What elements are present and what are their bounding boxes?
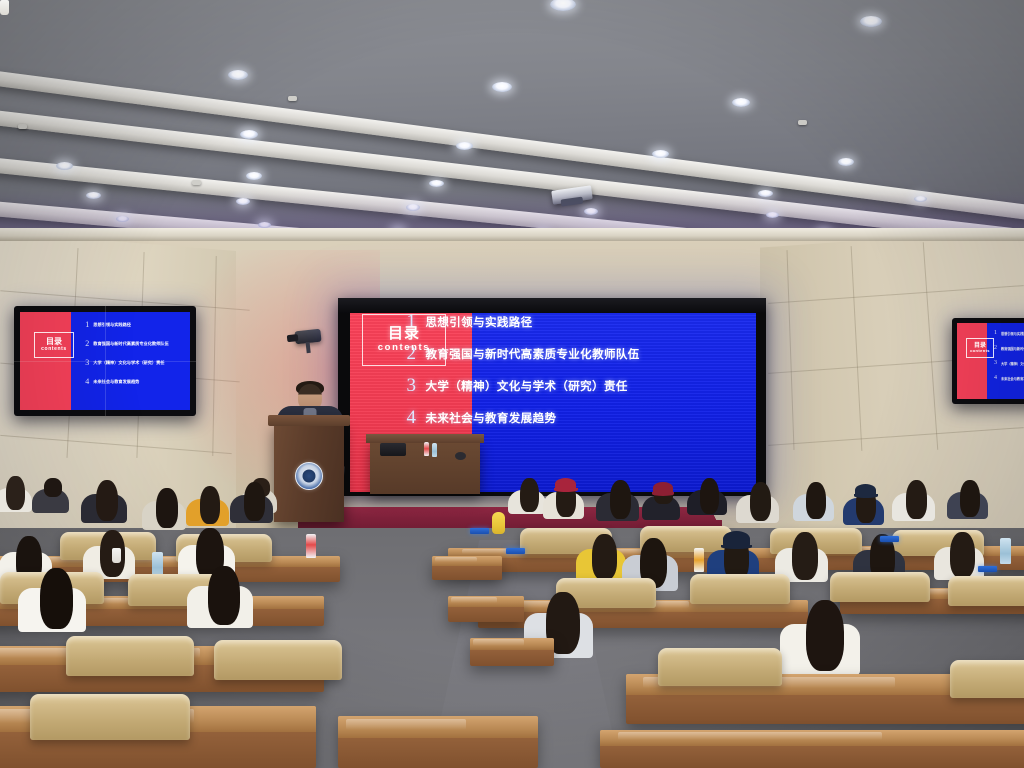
sprinkler-icon [18,124,27,129]
right-wall-toc-text: 教育强国与新时代高素质专业化教师队伍 [1001,346,1024,351]
slide-toc-item-2: 2教育强国与新时代高素质专业化教师队伍 [406,344,740,363]
contents-badge: 目录 contents [362,314,446,366]
slide-toc-list: 1思想引领与实践路径2教育强国与新时代高素质专业化教师队伍3大学（精神）文化与学… [406,312,740,427]
tablet-device [880,536,899,542]
seat-back [214,640,342,680]
student-desk [432,556,502,580]
wall-cornice [0,228,1024,241]
audience-head [96,480,118,521]
right-wall-toc-number: 2 [994,345,997,351]
university-emblem-icon [295,462,323,490]
contents-badge-en: contents [378,342,430,354]
left-wall-toc-item-1: 1思想引领与实践路径 [85,321,168,329]
cap-brim-icon [721,545,751,549]
seat-back [66,636,194,676]
downlight-icon [228,70,248,80]
downlight-icon [240,130,258,139]
water-bottle-icon [424,442,429,456]
audience-head [40,568,73,629]
left-wall-toc-number: 2 [85,340,89,348]
right-wall-toc-item-4: 4未来社会与教育发展趋势 [994,375,1024,381]
water-bottle-icon [306,534,316,558]
right-wall-toc-number: 4 [994,375,997,381]
desk-gloss [346,719,466,730]
slide-toc-text: 大学（精神）文化与学术（研究）责任 [425,378,627,394]
left-video-wall[interactable]: 1思想引领与实践路径2教育强国与新时代高素质专业化教师队伍3大学（精神）文化与学… [14,306,196,416]
seat-back [30,694,190,740]
downlight-icon [860,16,882,27]
right-wall-toc-number: 3 [994,360,997,366]
mascot-toy [492,512,505,534]
audience-head [244,482,265,521]
student-desk [448,596,524,622]
sprinkler-icon [288,96,297,101]
audience-head [750,482,771,521]
left-wall-toc-text: 思想引领与实践路径 [93,322,131,328]
student-desk [600,730,1024,768]
right-video-wall[interactable]: 1思想引领与实践路径2教育强国与新时代高素质专业化教师队伍3大学（精神）文化与学… [952,318,1024,404]
audience-head [792,532,818,580]
sprinkler-icon [798,120,807,125]
seat-back [950,660,1024,698]
podium [274,422,344,522]
left-wall-toc-text: 未来社会与教育发展趋势 [93,379,139,385]
downlight-icon [492,82,512,92]
mouse-icon [455,452,466,460]
audience-head [806,600,844,671]
paper-cup-icon [0,0,9,15]
downlight-icon [429,180,444,187]
desk-gloss [435,557,477,562]
audience-head [960,480,980,517]
water-bottle-icon [694,548,704,572]
podium-top [268,415,350,426]
tablet-device [506,548,525,554]
right-wall-toc-item-1: 1思想引领与实践路径 [994,330,1024,336]
contents-badge-cn: 目录 [388,326,420,342]
right-wall-toc-text: 大学（精神）文化与学术（研究）责任 [1001,361,1024,366]
desk-gloss [618,732,882,740]
right-wall-toc-number: 1 [994,330,997,336]
left-wall-badge-cn: 目录 [46,338,62,346]
audience-head [906,480,927,519]
audience-head [156,488,178,528]
seat-back [690,574,790,604]
student-desk [470,638,554,666]
audience-head [806,482,826,519]
slide-toc-item-3: 3大学（精神）文化与学术（研究）责任 [406,376,740,395]
audience-head [44,478,62,497]
left-wall-toc-item-2: 2教育强国与新时代高素质专业化教师队伍 [85,340,168,348]
audience-head [208,566,240,625]
lecture-hall-photo: 1思想引领与实践路径2教育强国与新时代高素质专业化教师队伍3大学（精神）文化与学… [0,0,1024,768]
downlight-icon [838,158,854,166]
audience-head [950,532,975,578]
right-wall-badge-en: contents [970,349,990,354]
audience-head [610,480,631,519]
seat-back [830,572,930,602]
water-bottle-icon [1000,538,1011,564]
right-wall-toc-text: 未来社会与教育发展趋势 [1001,376,1024,381]
cap-brim-icon [652,492,674,496]
seat-back [948,576,1024,606]
screen-bezel [338,298,766,313]
audience-head [6,476,25,510]
audience-head [592,534,617,580]
laptop-icon [380,443,406,456]
downlight-icon [732,98,750,107]
desk-gloss [473,639,523,645]
slide-toc-item-1: 1思想引领与实践路径 [406,312,740,331]
water-bottle-icon [432,443,437,457]
video-wall-seam [14,361,196,362]
downlight-icon [56,162,73,170]
right-wall-toc-text: 思想引领与实践路径 [1001,331,1024,336]
slide-toc-text: 未来社会与教育发展趋势 [425,410,556,426]
paper-cup-icon [112,548,121,563]
slide-toc-text: 教育强国与新时代高素质专业化教师队伍 [425,346,639,362]
downlight-icon [246,172,262,180]
tablet-device [978,566,997,572]
sprinkler-icon [192,180,201,185]
right-wall-toc-item-2: 2教育强国与新时代高素质专业化教师队伍 [994,345,1024,351]
left-wall-badge-en: contents [41,346,67,352]
right-wall-blue-panel: 1思想引领与实践路径2教育强国与新时代高素质专业化教师队伍3大学（精神）文化与学… [987,323,1024,399]
right-wall-red-panel [957,323,987,399]
slide-toc-number: 3 [406,376,417,395]
downlight-icon [456,142,473,150]
left-wall-toc-number: 1 [85,321,89,329]
downlight-icon [652,150,669,158]
seat-back [658,648,782,686]
slide-toc-item-4: 4未来社会与教育发展趋势 [406,408,740,427]
right-wall-toc-item-3: 3大学（精神）文化与学术（研究）责任 [994,360,1024,366]
downlight-icon [550,0,576,11]
audience-head [520,478,539,512]
left-wall-toc-item-4: 4未来社会与教育发展趋势 [85,378,168,386]
audience-head [700,478,719,514]
student-desk [338,716,538,768]
left-wall-toc-number: 4 [85,378,89,386]
slide-toc-number: 4 [406,408,417,427]
desk-gloss [451,597,497,603]
audience-head [200,486,220,524]
tablet-device [470,528,489,534]
wall-camera-icon [294,329,321,345]
